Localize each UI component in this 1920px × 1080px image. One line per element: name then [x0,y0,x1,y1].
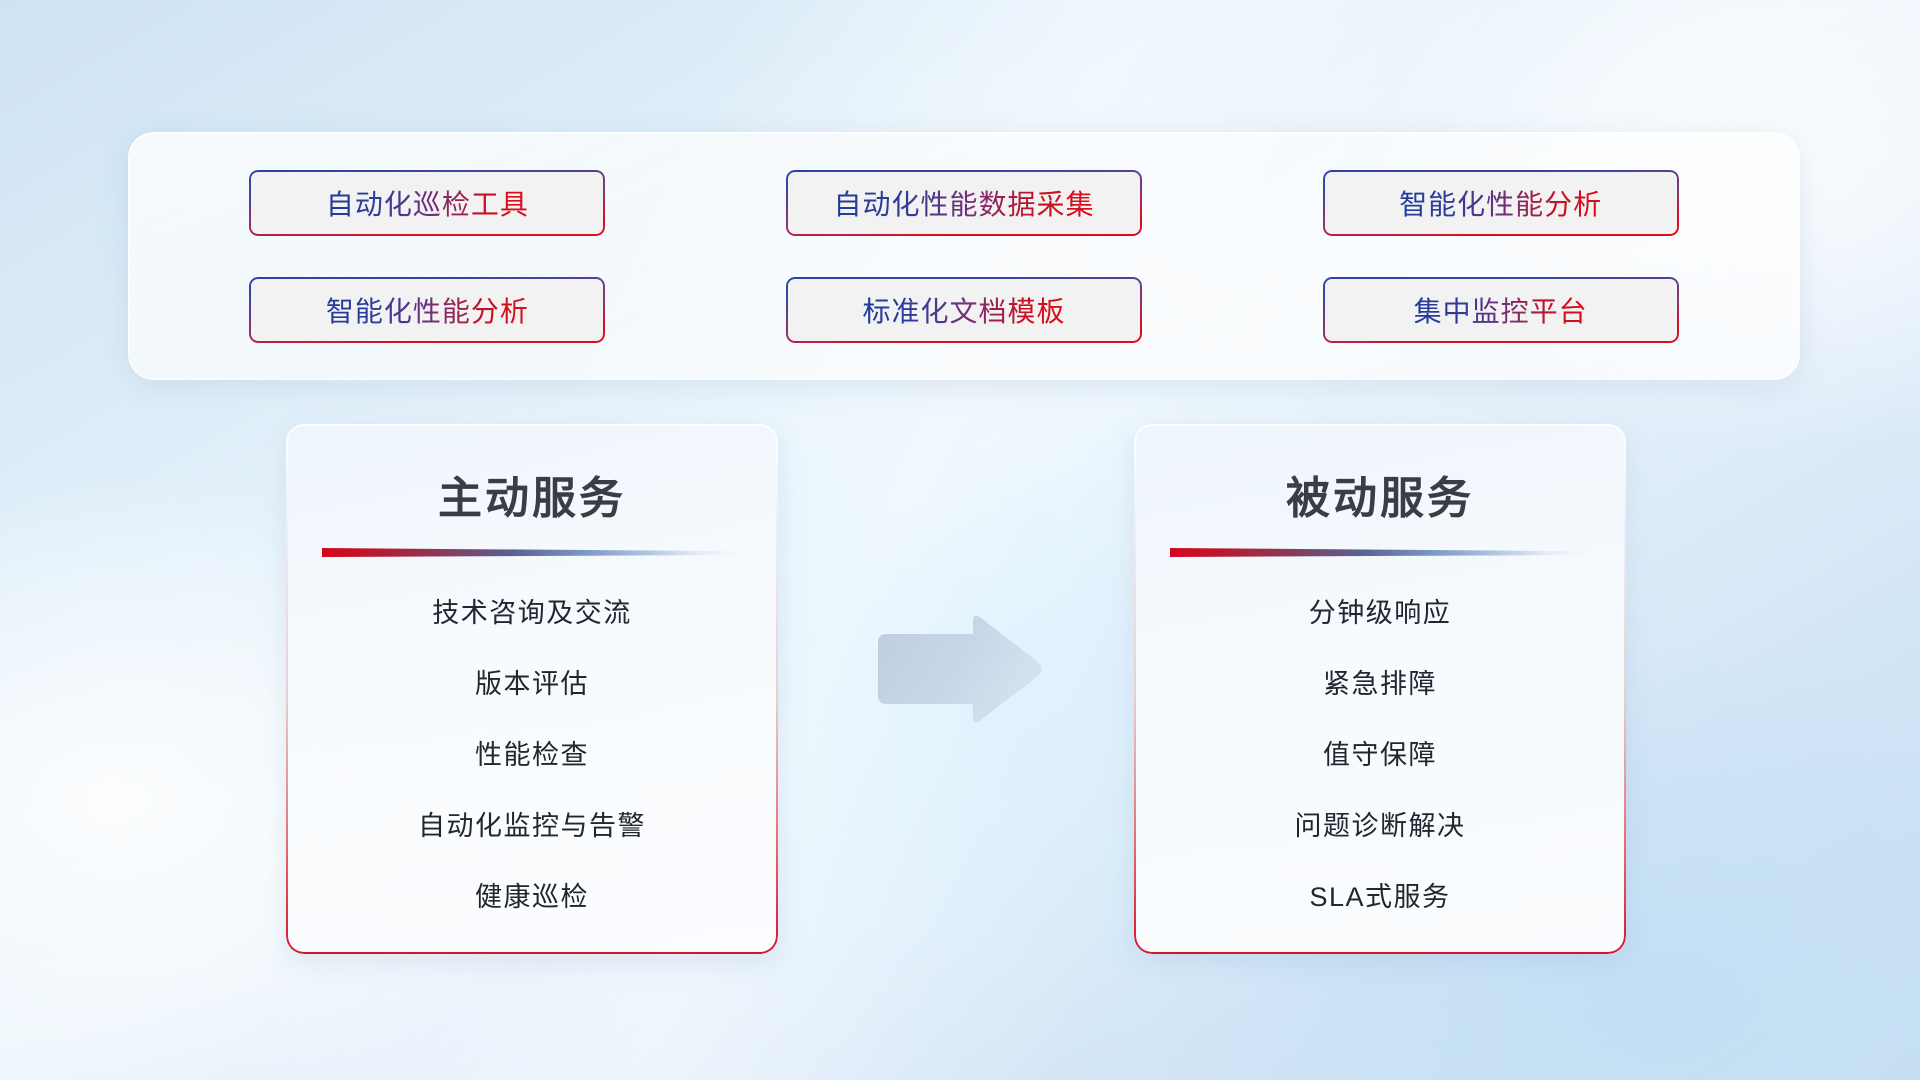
service-card-title: 主动服务 [286,462,778,526]
service-card-passive: 被动服务 分钟级响应 紧急排障 值守保障 问题诊断解决 SLA式服务 [1134,424,1626,954]
pill-cell: 自动化巡检工具 [199,159,656,246]
title-divider [1170,548,1590,557]
service-item: 健康巡检 [475,875,589,914]
capability-pill-label: 智能化性能分析 [326,290,529,330]
service-item: 自动化监控与告警 [418,804,646,843]
pill-cell: 集中监控平台 [1272,266,1729,353]
service-item: 紧急排障 [1323,662,1437,701]
capability-pill-label: 标准化文档模板 [862,290,1065,330]
service-item: 问题诊断解决 [1295,804,1466,843]
capability-pill-2[interactable]: 自动化性能数据采集 [786,170,1142,236]
capability-pill-label: 集中监控平台 [1414,290,1588,330]
capability-pill-label: 智能化性能分析 [1399,183,1602,223]
arrow-right-icon [868,610,1044,728]
capability-pill-4[interactable]: 智能化性能分析 [249,277,605,343]
service-item: 分钟级响应 [1309,591,1452,630]
service-card-active: 主动服务 技术咨询及交流 版本评估 性能检查 自动化监控与告警 健康巡检 [286,424,778,954]
capability-pill-label: 自动化性能数据采集 [833,183,1094,223]
service-item: SLA式服务 [1309,875,1450,914]
capabilities-panel: 自动化巡检工具 自动化性能数据采集 智能化性能分析 智能化性能分析 标准化文档模… [128,132,1800,380]
service-item: 版本评估 [475,662,589,701]
service-item-list: 技术咨询及交流 版本评估 性能检查 自动化监控与告警 健康巡检 [286,591,778,914]
pill-cell: 智能化性能分析 [1272,159,1729,246]
pill-cell: 标准化文档模板 [736,266,1193,353]
pill-cell: 自动化性能数据采集 [736,159,1193,246]
capability-pill-1[interactable]: 自动化巡检工具 [249,170,605,236]
capability-pill-5[interactable]: 标准化文档模板 [786,277,1142,343]
pill-cell: 智能化性能分析 [199,266,656,353]
service-item-list: 分钟级响应 紧急排障 值守保障 问题诊断解决 SLA式服务 [1134,591,1626,914]
service-card-title: 被动服务 [1134,462,1626,526]
capability-pill-3[interactable]: 智能化性能分析 [1323,170,1679,236]
capability-pill-label: 自动化巡检工具 [326,183,529,223]
title-divider [322,548,742,557]
capability-pill-6[interactable]: 集中监控平台 [1323,277,1679,343]
service-item: 技术咨询及交流 [432,591,632,630]
service-item: 值守保障 [1323,733,1437,772]
service-item: 性能检查 [475,733,589,772]
